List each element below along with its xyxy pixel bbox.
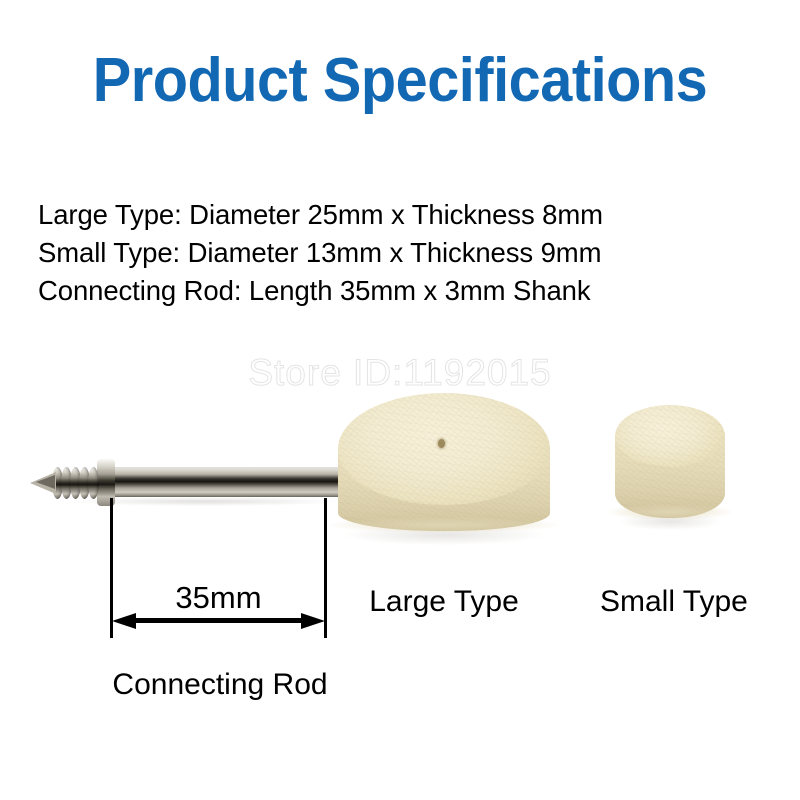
connecting-rod-tip-shading bbox=[36, 475, 55, 489]
felt-wheel-small-top-face bbox=[615, 405, 725, 467]
connecting-rod-shank bbox=[110, 467, 358, 497]
connecting-rod-image bbox=[30, 445, 340, 525]
felt-wheel-large-caption: Large Type bbox=[338, 585, 550, 619]
felt-wheel-large-center-hole bbox=[438, 439, 445, 448]
felt-wheel-small-image bbox=[615, 405, 725, 531]
connecting-rod-caption: Connecting Rod bbox=[45, 668, 395, 702]
arrow-bar bbox=[128, 618, 309, 623]
felt-wheel-large-top-face bbox=[338, 393, 550, 505]
felt-wheel-large-image bbox=[338, 393, 550, 553]
connecting-rod-threads bbox=[52, 467, 100, 499]
dimension-value-label: 35mm bbox=[110, 580, 327, 616]
felt-wheel-small-caption: Small Type bbox=[600, 585, 740, 619]
product-illustration-stage: 35mm Connecting Rod Large Type Small Typ… bbox=[0, 0, 800, 800]
